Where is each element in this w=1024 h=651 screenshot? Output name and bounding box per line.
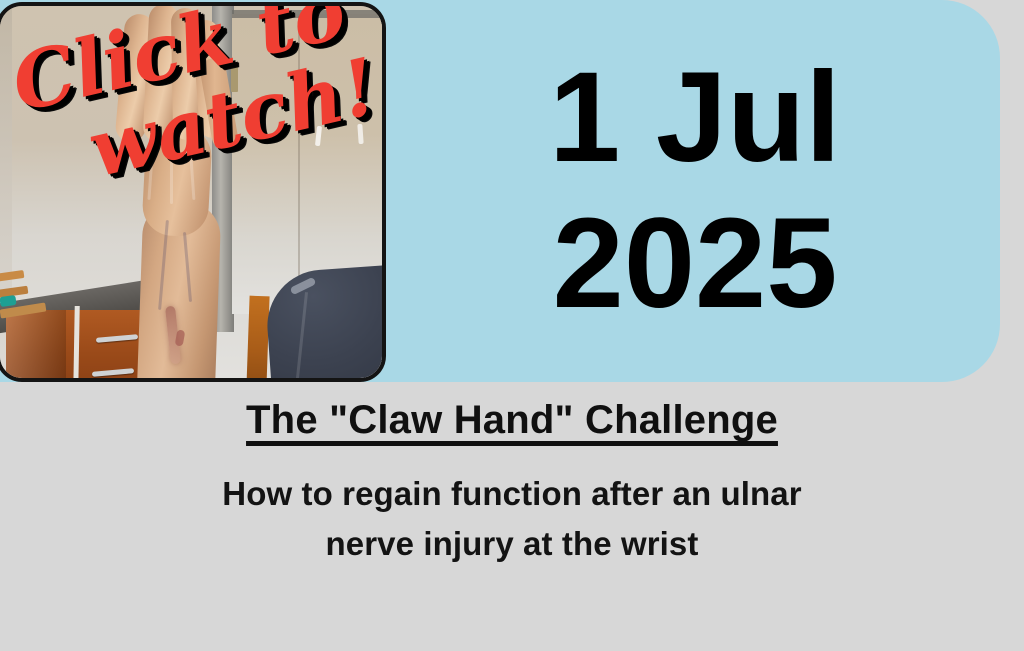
post-card: 1 Jul 2025 xyxy=(0,0,1024,651)
photo-door-seam xyxy=(298,16,300,312)
post-subtitle: How to regain function after an ulnar ne… xyxy=(0,469,1024,568)
date-text-group: 1 Jul 2025 xyxy=(390,0,1000,382)
video-thumbnail[interactable]: Click to watch! xyxy=(0,2,386,382)
caption-block: The "Claw Hand" Challenge How to regain … xyxy=(0,398,1024,568)
post-subtitle-line-1: How to regain function after an ulnar xyxy=(0,469,1024,519)
thumbnail-photo xyxy=(0,6,382,378)
photo-cabinet-shading xyxy=(6,310,66,378)
date-year: 2025 xyxy=(553,200,838,328)
photo-tendon xyxy=(170,124,173,204)
photo-door-header xyxy=(232,10,382,18)
date-day-month: 1 Jul xyxy=(549,54,841,182)
post-subtitle-line-2: nerve injury at the wrist xyxy=(0,519,1024,569)
photo-wood-trim xyxy=(246,296,269,378)
post-title: The "Claw Hand" Challenge xyxy=(246,398,778,443)
photo-door-latch xyxy=(231,64,238,92)
